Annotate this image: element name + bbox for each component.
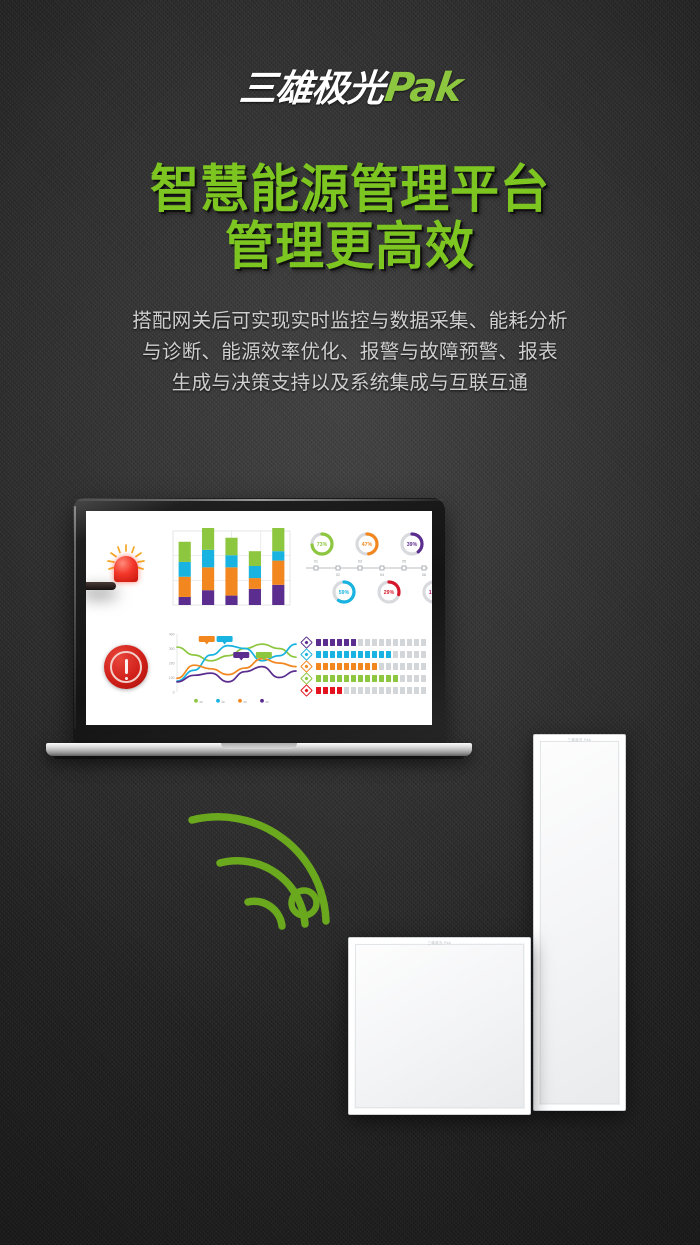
waffle-block [351, 639, 356, 646]
laptop-screen: 73%47%39%59%29%17%010203040506 010020030… [86, 511, 432, 725]
waffle-block [407, 639, 412, 646]
warning-cell [92, 618, 160, 715]
wifi-signal-svg [186, 784, 356, 934]
waffle-block [337, 663, 342, 670]
waffle-block [365, 639, 370, 646]
svg-text:04: 04 [380, 573, 384, 577]
waffle-block [316, 651, 321, 658]
svg-text:02: 02 [336, 573, 340, 577]
waffle-block [400, 687, 405, 694]
waffle-block [344, 651, 349, 658]
waffle-row [302, 686, 432, 695]
laptop-lid: 73%47%39%59%29%17%010203040506 010020030… [73, 498, 445, 743]
waffle-block [407, 651, 412, 658]
alarm-cell [92, 519, 160, 616]
waffle-block [330, 663, 335, 670]
waffle-block [351, 663, 356, 670]
waffle-diamond-icon [300, 660, 313, 673]
waffle-block [358, 663, 363, 670]
laptop-device: 73%47%39%59%29%17%010203040506 010020030… [73, 498, 445, 756]
waffle-block [337, 687, 342, 694]
waffle-block [358, 651, 363, 658]
waffle-block [358, 687, 363, 694]
waffle-block [330, 651, 335, 658]
waffle-block [393, 639, 398, 646]
energy-dashboard: 73%47%39%59%29%17%010203040506 010020030… [86, 511, 432, 725]
waffle-block [379, 639, 384, 646]
waffle-block [407, 663, 412, 670]
svg-text:03: 03 [358, 559, 362, 563]
led-panel-square: 三雄极光 Pak [348, 937, 531, 1115]
waffle-block [379, 651, 384, 658]
waffle-block [344, 639, 349, 646]
waffle-block [372, 675, 377, 682]
waffle-block [379, 687, 384, 694]
waffle-block [421, 687, 426, 694]
brand-logo-cn: 三雄极光 [237, 58, 387, 112]
waffle-block [358, 639, 363, 646]
waffle-block [393, 663, 398, 670]
line-chart-cell: 0100200300400▬▬▬▬ [162, 618, 300, 715]
svg-text:17%: 17% [429, 589, 432, 595]
waffle-block [400, 639, 405, 646]
waffle-chart-cell [302, 618, 432, 715]
waffle-block [414, 663, 419, 670]
led-panel-square-brandmark: 三雄极光 Pak [428, 940, 452, 945]
led-panel-tall-brandmark: 三雄极光 Pak [568, 737, 592, 742]
waffle-block [351, 651, 356, 658]
waffle-block [323, 687, 328, 694]
waffle-block [414, 687, 419, 694]
brand-logo: 三雄极光 Pak [0, 58, 700, 112]
waffle-block [414, 675, 419, 682]
waffle-block [379, 675, 384, 682]
waffle-diamond-icon [300, 685, 313, 698]
donut-gauge-svg: 73%47%39%59%29%17%010203040506 [302, 529, 432, 607]
description-block: 搭配网关后可实现实时监控与数据采集、能耗分析 与诊断、能源效率优化、报警与故障预… [50, 305, 650, 398]
waffle-block [421, 663, 426, 670]
waffle-block [330, 639, 335, 646]
waffle-block [414, 639, 419, 646]
waffle-block [379, 663, 384, 670]
waffle-block [393, 675, 398, 682]
waffle-block [414, 651, 419, 658]
waffle-block [330, 687, 335, 694]
waffle-block [351, 675, 356, 682]
waffle-block [393, 651, 398, 658]
waffle-block [323, 675, 328, 682]
waffle-block [386, 675, 391, 682]
svg-text:29%: 29% [384, 589, 395, 595]
waffle-block [316, 663, 321, 670]
laptop-base-notch [221, 743, 297, 749]
waffle-block [316, 687, 321, 694]
waffle-block [337, 675, 342, 682]
siren-dome [114, 556, 138, 582]
description-line3: 生成与决策支持以及系统集成与互联互通 [50, 367, 650, 398]
waffle-block [323, 639, 328, 646]
page-title-line1: 智慧能源管理平台 [0, 160, 700, 219]
waffle-row [302, 650, 432, 659]
waffle-block [344, 663, 349, 670]
laptop-base [46, 743, 472, 756]
waffle-block [407, 675, 412, 682]
siren-beacon-icon [105, 544, 147, 592]
svg-text:300: 300 [169, 646, 175, 650]
bar-chart-cell [162, 519, 300, 616]
waffle-block [344, 675, 349, 682]
laptop-base-shadow [54, 756, 464, 759]
waffle-block [365, 651, 370, 658]
stacked-bar-chart-svg [169, 528, 294, 608]
waffle-block [323, 663, 328, 670]
warning-exclamation-icon [104, 645, 148, 689]
svg-text:73%: 73% [317, 541, 328, 547]
waffle-block [372, 651, 377, 658]
waffle-block-chart [302, 631, 432, 703]
svg-text:39%: 39% [407, 541, 418, 547]
waffle-block [393, 687, 398, 694]
waffle-block [407, 687, 412, 694]
waffle-block [365, 663, 370, 670]
waffle-row [302, 638, 432, 647]
waffle-block [386, 651, 391, 658]
waffle-diamond-icon [300, 648, 313, 661]
svg-text:100: 100 [169, 675, 175, 679]
waffle-row [302, 674, 432, 683]
svg-text:47%: 47% [362, 541, 373, 547]
page-title: 智慧能源管理平台 管理更高效 [0, 162, 700, 274]
waffle-block [323, 651, 328, 658]
multi-line-chart: 0100200300400▬▬▬▬ [162, 626, 300, 708]
poster-root: 三雄极光 Pak 智慧能源管理平台 管理更高效 搭配网关后可实现实时监控与数据采… [0, 0, 700, 1245]
svg-text:05: 05 [402, 559, 406, 563]
waffle-block [372, 663, 377, 670]
donut-gauge-panel: 73%47%39%59%29%17%010203040506 [302, 529, 432, 607]
warning-ring [110, 651, 142, 683]
svg-text:06: 06 [422, 573, 426, 577]
multi-line-chart-svg: 0100200300400▬▬▬▬ [162, 626, 300, 708]
siren-base [86, 582, 116, 590]
waffle-block [386, 663, 391, 670]
waffle-block [365, 687, 370, 694]
svg-text:▬: ▬ [200, 699, 204, 703]
svg-text:400: 400 [169, 632, 175, 636]
svg-text:▬: ▬ [266, 699, 270, 703]
waffle-block [421, 639, 426, 646]
waffle-block [358, 675, 363, 682]
waffle-block [400, 675, 405, 682]
waffle-block [337, 651, 342, 658]
waffle-block [316, 639, 321, 646]
waffle-block [421, 651, 426, 658]
led-panel-square-surface [355, 944, 524, 1108]
waffle-block [365, 675, 370, 682]
donut-gauges-cell: 73%47%39%59%29%17%010203040506 [302, 519, 432, 616]
description-line1: 搭配网关后可实现实时监控与数据采集、能耗分析 [50, 305, 650, 336]
led-panel-tall: 三雄极光 Pak [533, 734, 626, 1111]
waffle-block [400, 663, 405, 670]
waffle-block [386, 639, 391, 646]
waffle-diamond-icon [300, 672, 313, 685]
led-panel-tall-surface [540, 741, 619, 1104]
waffle-row [302, 662, 432, 671]
waffle-diamond-icon [300, 636, 313, 649]
waffle-block [386, 687, 391, 694]
stacked-bar-chart [169, 528, 294, 608]
brand-logo-en: Pak [381, 65, 463, 111]
waffle-block [316, 675, 321, 682]
svg-text:200: 200 [169, 661, 175, 665]
waffle-block [330, 675, 335, 682]
svg-text:59%: 59% [339, 589, 350, 595]
warning-exclamation-mark [125, 659, 128, 674]
waffle-block [344, 687, 349, 694]
wifi-signal-icon [186, 784, 356, 934]
waffle-block [421, 675, 426, 682]
waffle-block [400, 651, 405, 658]
waffle-block [337, 639, 342, 646]
svg-text:▬: ▬ [222, 699, 226, 703]
page-title-line2: 管理更高效 [0, 218, 700, 275]
waffle-block [372, 687, 377, 694]
svg-text:▬: ▬ [244, 699, 248, 703]
waffle-block [372, 639, 377, 646]
waffle-block [351, 687, 356, 694]
svg-text:01: 01 [314, 559, 318, 563]
svg-text:0: 0 [173, 690, 175, 694]
description-line2: 与诊断、能源效率优化、报警与故障预警、报表 [50, 336, 650, 367]
